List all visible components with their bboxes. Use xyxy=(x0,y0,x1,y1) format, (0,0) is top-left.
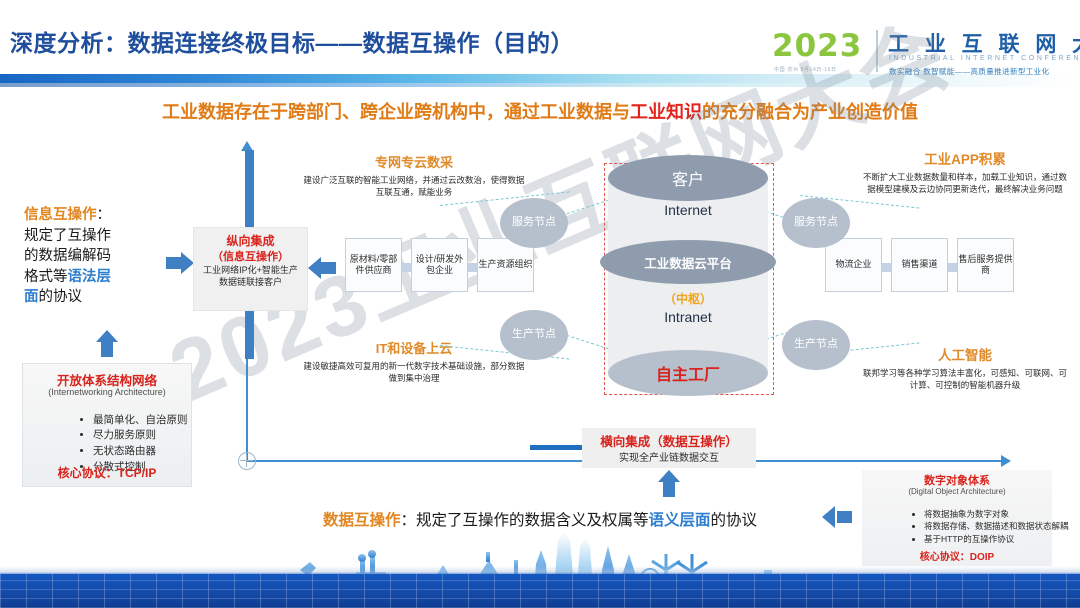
note-it-cloud-title: IT和设备上云 xyxy=(300,338,528,357)
list-item: 将数据抽象为数字对象 xyxy=(924,508,1080,521)
footer-grid xyxy=(0,574,1080,608)
list-item: 无状态路由器 xyxy=(93,444,233,460)
info-interop-text: 信息互操作： 规定了互操作 的数据编解码 格式等语法层 面的协议 xyxy=(24,205,164,308)
note-ai: 人工智能 联邦学习等各种学习算法丰富化，可感知、可联网、可计算、可控制的智能机器… xyxy=(862,344,1068,392)
logo-year: 2023 xyxy=(772,28,862,64)
logo-tagline: 数实融合 数智赋能——高质量推进新型工业化 xyxy=(889,66,1049,77)
node-left-production: 生产节点 xyxy=(500,310,568,360)
info-interop-line3b: 语法层 xyxy=(68,269,112,285)
bottom-statement-text2: 的协议 xyxy=(711,512,758,529)
arrow-left-into-vertical-integration xyxy=(308,257,336,279)
vertical-integration-stem-bottom xyxy=(245,309,254,359)
center-customer-ellipse: 客户 xyxy=(608,155,768,201)
logo-year-subtext: 中国·苏州 8月14日-16日 xyxy=(774,66,837,73)
info-interop-line3a: 格式等 xyxy=(24,269,68,285)
open-architecture-core-protocol: 核心协议：TCP/IP xyxy=(23,464,191,481)
horizontal-integration-desc: 实现全产业链数据交互 xyxy=(582,449,756,464)
subtitle-part1: 工业数据存在于跨部门、跨企业跨机构中，通过工业数据与 xyxy=(162,102,630,122)
slide-root: 深度分析：数据连接终极目标——数据互操作（目的） 2023 中国·苏州 8月14… xyxy=(0,0,1080,608)
note-industrial-app-body: 不断扩大工业数据数量和样本，加载工业知识，通过数据模型建模及云边协同更新迭代，最… xyxy=(862,171,1068,196)
header-rule-secondary xyxy=(0,83,1080,87)
arrow-up-to-info-interop xyxy=(96,330,118,358)
bottom-statement-text1: 规定了互操作的数据含义及权属等 xyxy=(416,512,649,529)
vertical-integration-subtitle: （信息互操作） xyxy=(194,248,307,264)
subtitle-highlight: 工业知识 xyxy=(630,102,702,122)
logo-english-name: INDUSTRIAL INTERNET CONFERENCE xyxy=(889,55,1080,62)
open-architecture-card: 开放体系结构网络 (Internetworking Architecture) … xyxy=(22,363,192,487)
arrow-right-to-vertical-integration xyxy=(166,252,194,274)
logo-chinese-name: 工 业 互 联 网 大 会 xyxy=(888,28,1080,58)
note-it-cloud: IT和设备上云 建设敏捷高效可复用的新一代数字技术基础设施，部分数据做到集中治理 xyxy=(300,338,528,384)
node-right-production: 生产节点 xyxy=(782,320,850,370)
bottom-statement-key: 数据互操作 xyxy=(323,512,401,529)
vertical-integration-box: 纵向集成 （信息互操作） 工业网络IP化+智能生产数据链联接客户 xyxy=(193,227,308,311)
center-factory-ellipse: 自主工厂 xyxy=(608,350,768,396)
chain-box-after-sales: 售后服务提供商 xyxy=(957,238,1014,292)
slide-subtitle: 工业数据存在于跨部门、跨企业跨机构中，通过工业数据与工业知识的充分融合为产业创造… xyxy=(0,98,1080,124)
node-right-service: 服务节点 xyxy=(782,198,850,248)
node-left-service: 服务节点 xyxy=(500,198,568,248)
vertical-integration-desc: 工业网络IP化+智能生产数据链联接客户 xyxy=(199,265,302,288)
horizontal-integration-stem xyxy=(530,445,586,450)
note-private-cloud: 专网专云数采 建设广泛互联的智能工业网络，并通过云改数治，使得数据互联互通，赋能… xyxy=(300,152,528,198)
arrow-up-to-horizontal-integration xyxy=(658,470,680,498)
conference-logo: 2023 中国·苏州 8月14日-16日 工 业 互 联 网 大 会 INDUS… xyxy=(772,26,1072,82)
horizontal-integration-box: 横向集成（数据互操作） 实现全产业链数据交互 xyxy=(582,428,756,468)
footer-skyline xyxy=(0,530,1080,608)
chain-box-sales-channel: 销售渠道 xyxy=(891,238,948,292)
info-interop-colon: ： xyxy=(97,207,112,223)
note-industrial-app: 工业APP积累 不断扩大工业数据数量和样本，加载工业知识，通过数据模型建模及云边… xyxy=(862,148,1068,196)
info-interop-key: 信息互操作 xyxy=(24,207,97,223)
center-intranet-label: Intranet xyxy=(608,309,768,325)
note-it-cloud-body: 建设敏捷高效可复用的新一代数字技术基础设施，部分数据做到集中治理 xyxy=(300,360,528,384)
chain-box-logistics: 物流企业 xyxy=(825,238,882,292)
list-item: 尽力服务原则 xyxy=(93,428,233,444)
center-platform-ellipse: 工业数据云平台 xyxy=(600,240,776,284)
subtitle-part2: 的充分融合为产业创造价值 xyxy=(702,102,918,122)
info-interop-line4b: 面 xyxy=(24,289,39,305)
center-hub-label: （中枢） xyxy=(608,290,768,307)
page-title: 深度分析：数据连接终极目标——数据互操作（目的） xyxy=(10,24,574,58)
note-private-cloud-title: 专网专云数采 xyxy=(300,152,528,171)
note-industrial-app-title: 工业APP积累 xyxy=(862,148,1068,168)
note-private-cloud-body: 建设广泛互联的智能工业网络，并通过云改数治，使得数据互联互通，赋能业务 xyxy=(300,174,528,198)
info-interop-line1: 规定了互操作 xyxy=(24,228,111,244)
vertical-integration-stem-top xyxy=(245,150,254,228)
digital-object-title: 数字对象体系 xyxy=(862,472,1052,488)
slide-header: 深度分析：数据连接终极目标——数据互操作（目的） 2023 中国·苏州 8月14… xyxy=(0,0,1080,88)
note-ai-title: 人工智能 xyxy=(862,344,1068,364)
note-ai-body: 联邦学习等各种学习算法丰富化，可感知、可联网、可计算、可控制的智能机器升级 xyxy=(862,367,1068,392)
center-internet-label: Internet xyxy=(608,202,768,218)
horizontal-integration-title: 横向集成（数据互操作） xyxy=(582,431,756,450)
open-architecture-subtitle: (Internetworking Architecture) xyxy=(23,387,191,397)
logo-divider xyxy=(876,30,878,72)
origin-marker-icon xyxy=(238,452,256,470)
digital-object-subtitle: (Digital Object Architecture) xyxy=(862,487,1052,496)
vertical-integration-title: 纵向集成 xyxy=(194,232,307,249)
info-interop-line4a: 的协议 xyxy=(39,289,83,305)
arrow-left-from-digital-object xyxy=(822,506,852,528)
chain-box-raw-material: 原材料/零部件供应商 xyxy=(345,238,402,292)
bottom-statement-colon: ： xyxy=(400,512,416,529)
list-item: 最简单化、自治原则 xyxy=(93,413,233,429)
bottom-statement-highlight: 语义层面 xyxy=(649,512,711,529)
chain-box-design-outsourcing: 设计/研发外包企业 xyxy=(411,238,468,292)
info-interop-line2: 的数据编解码 xyxy=(24,248,111,264)
